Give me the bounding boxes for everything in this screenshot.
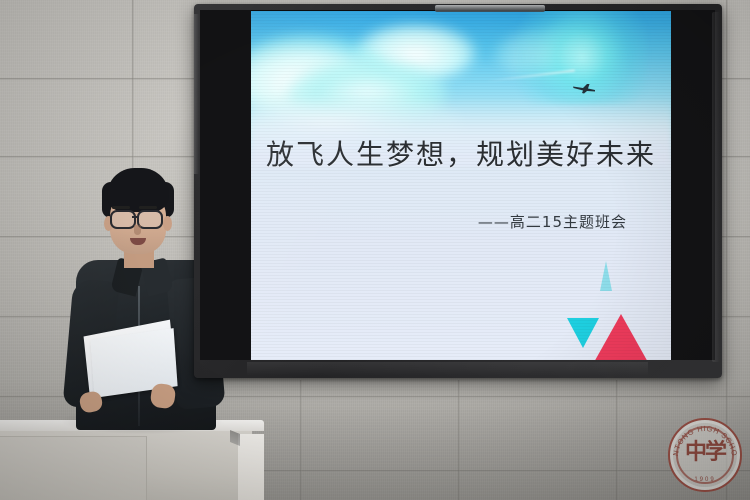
display-top-light bbox=[435, 5, 545, 12]
lectern-front-panel bbox=[0, 436, 147, 500]
glasses-bridge bbox=[132, 216, 138, 218]
glasses-icon bbox=[110, 210, 136, 229]
small-up-triangle-icon bbox=[600, 261, 612, 291]
presenter-nose bbox=[134, 225, 141, 235]
bezel-highlight-right bbox=[712, 12, 720, 362]
bezel-highlight-left bbox=[194, 14, 199, 174]
slide-title: 放飞人生梦想，规划美好未来 bbox=[251, 133, 671, 173]
lectern-side-panel bbox=[238, 434, 264, 500]
red-up-triangle-icon bbox=[593, 314, 649, 360]
bezel-highlight-bottom bbox=[247, 362, 648, 376]
presenter-eyebrow bbox=[112, 206, 130, 209]
presenter-ear bbox=[163, 216, 172, 231]
display-letterbox-left bbox=[200, 10, 251, 360]
slide-subtitle: ——高二15主题班会 bbox=[478, 211, 627, 232]
airplane-icon bbox=[572, 82, 598, 94]
presenter-eyebrow bbox=[139, 206, 157, 209]
school-seal-watermark: NANTONG HIGH SCHOOL 中学 1909 bbox=[668, 418, 742, 492]
seal-center-characters: 中学 bbox=[668, 442, 742, 464]
display-letterbox-right bbox=[665, 10, 715, 360]
presentation-display[interactable]: 放飞人生梦想，规划美好未来 ——高二15主题班会 bbox=[194, 4, 722, 378]
screenshot-scene: 放飞人生梦想，规划美好未来 ——高二15主题班会 NANTONG HIGH SC… bbox=[0, 0, 750, 500]
seal-year: 1909 bbox=[668, 477, 742, 483]
slide-content[interactable]: 放飞人生梦想，规划美好未来 ——高二15主题班会 bbox=[251, 11, 671, 360]
